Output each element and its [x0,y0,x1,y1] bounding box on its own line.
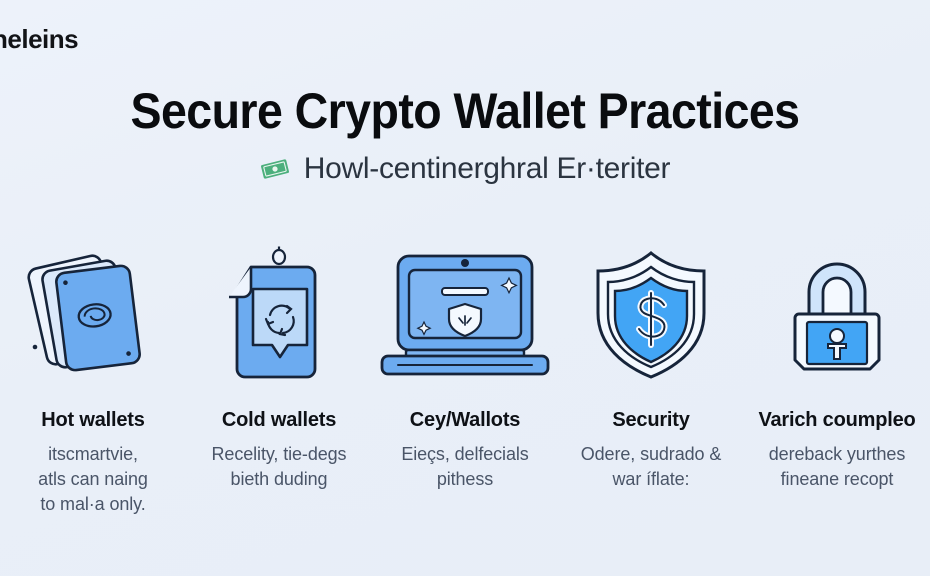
slide-canvas: heleins Secure Crypto Wallet Practices H… [0,0,930,576]
column-body: Eieçs, delfecials pithess [401,442,528,492]
stacked-cards-icon [23,245,163,385]
feature-column-cold-wallets: Cold wallets Recelity, tie-degs bieth du… [186,245,372,516]
column-body: Odere, sudrado & war íflate: [581,442,721,492]
laptop-shield-icon [372,245,558,385]
column-heading: Hot wallets [41,409,144,432]
column-heading: Security [612,409,689,432]
page-subtitle: Howl-centinerghral Er·teriter [304,152,670,186]
feature-column-hot-wallets: Hot wallets itscmartvie, atls can naing … [0,245,186,516]
money-banknote-icon [260,158,290,180]
shield-dollar-icon [588,245,714,385]
column-body: itscmartvie, atls can naing to mal·a onl… [38,442,148,516]
page-title: Secure Crypto Wallet Practices [33,82,898,140]
column-heading: Varich coumpleo [758,409,915,432]
feature-column-key-wallets: Cey/Wallots Eieçs, delfecials pithess [372,245,558,516]
document-recycle-icon [219,245,339,385]
column-body: dereback yurthes fineane recopt [769,442,905,492]
feature-columns: Hot wallets itscmartvie, atls can naing … [0,245,930,516]
brand-logo-text: heleins [0,24,78,55]
column-body: Recelity, tie-degs bieth duding [212,442,347,492]
feature-column-security: Security Odere, sudrado & war íflate: [558,245,744,516]
subtitle-row: Howl-centinerghral Er·teriter [0,152,930,186]
padlock-icon [781,245,893,385]
feature-column-compliance: Varich coumpleo dereback yurthes fineane… [744,245,930,516]
column-heading: Cey/Wallots [410,409,520,432]
column-heading: Cold wallets [222,409,336,432]
